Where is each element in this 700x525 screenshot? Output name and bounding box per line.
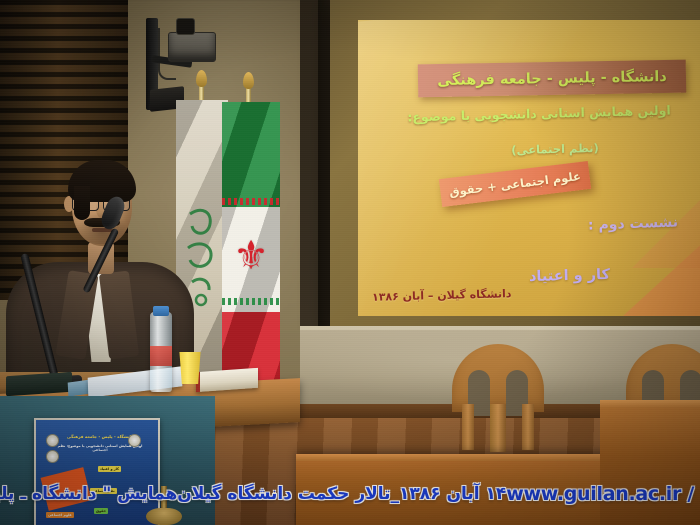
iran-emblem-icon: ⚜ [231, 234, 271, 278]
photograph-canvas: دانشگاه - پلیس - جامعه فرهنگی اولین همای… [0, 0, 700, 525]
flag-finial-right [243, 72, 254, 89]
poster-tag: علوم اجتماعی [46, 512, 74, 518]
chair-spine [490, 404, 506, 452]
flag-kufic-band-top [222, 198, 280, 205]
poster-tag: نظم اجتماعی [90, 488, 117, 494]
poster-tag: حقوق [94, 508, 108, 514]
poster-diamond-shape [41, 467, 92, 511]
water-bottle-label [150, 346, 172, 366]
poster-logo-icon [128, 434, 141, 447]
flag-finial-left [196, 70, 207, 87]
camera-body [168, 32, 216, 62]
presentation-slide: دانشگاه - پلیس - جامعه فرهنگی اولین همای… [358, 20, 700, 316]
poster-logo-icon [46, 450, 59, 463]
chair-leg [462, 404, 474, 450]
projection-screen: دانشگاه - پلیس - جامعه فرهنگی اولین همای… [330, 0, 700, 330]
flag-kufic-band-bottom [222, 298, 280, 305]
slide-title: دانشگاه - پلیس - جامعه فرهنگی [437, 68, 667, 88]
slide-title-banner: دانشگاه - پلیس - جامعه فرهنگی [418, 60, 687, 98]
podium-lamp [146, 486, 182, 525]
slide-session-label: نشست دوم : [588, 214, 679, 233]
poster-logo-icon [46, 434, 59, 447]
event-poster: دانشگاه - پلیس - جامعه فرهنگی اولین همای… [34, 418, 160, 525]
yellow-plastic-cup [178, 352, 202, 384]
wooden-table-right [600, 400, 700, 525]
water-bottle-cap [153, 306, 169, 316]
camera-lens-icon [176, 18, 195, 35]
chair-leg [522, 404, 534, 450]
poster-tag: کار و اعتیاد [98, 466, 121, 472]
lamp-foot [146, 508, 182, 525]
slide-session-topic: کار و اعتیاد [529, 267, 610, 285]
